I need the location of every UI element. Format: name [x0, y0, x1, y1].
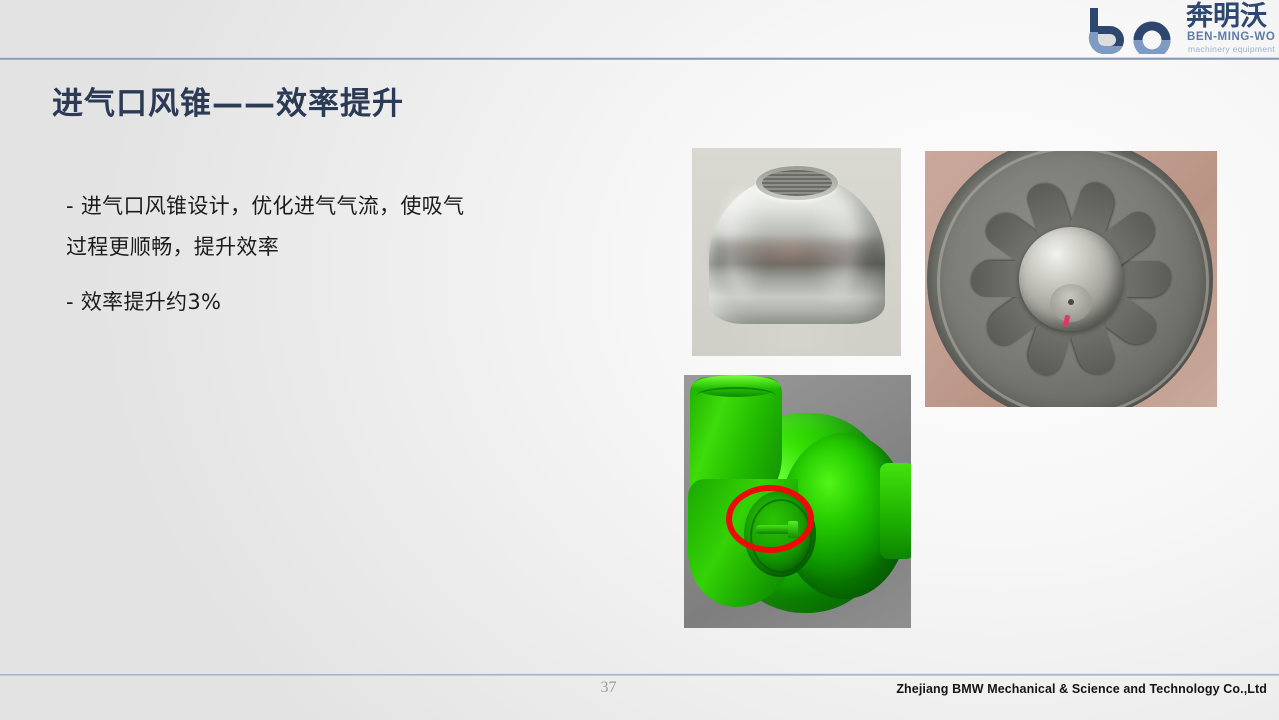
blower-outlet — [880, 463, 911, 559]
company-logo: 奔明沃 BEN-MING-WO machinery equipment — [1046, 2, 1271, 58]
impeller-photo — [925, 151, 1217, 407]
footer-divider — [0, 673, 1279, 676]
red-highlight-ellipse — [726, 485, 814, 553]
logo-english-name: BEN-MING-WO — [1187, 31, 1275, 43]
bullet-line-1: - 进气口风锥设计，优化进气气流，使吸气 — [66, 186, 626, 227]
slide-title: 进气口风锥——效率提升 — [52, 78, 404, 123]
logo-chinese-name: 奔明沃 — [1186, 3, 1267, 30]
bo-monogram-icon — [1084, 6, 1180, 54]
bullet-line-3: - 效率提升约3% — [66, 282, 626, 323]
presentation-slide: 奔明沃 BEN-MING-WO machinery equipment 进气口风… — [0, 0, 1279, 720]
bullet-line-2: 过程更顺畅，提升效率 — [66, 227, 626, 268]
footer-company-name: Zhejiang BMW Mechanical & Science and Te… — [896, 682, 1267, 696]
logo-tagline: machinery equipment — [1188, 44, 1275, 54]
blower-inlet-ring — [696, 387, 776, 405]
inlet-cone-photo — [692, 148, 901, 356]
cad-render — [684, 375, 911, 628]
slide-body: - 进气口风锥设计，优化进气气流，使吸气 过程更顺畅，提升效率 - 效率提升约3… — [66, 186, 626, 323]
cone-threaded-bore — [762, 170, 832, 196]
cone-reflection-band — [714, 240, 880, 266]
